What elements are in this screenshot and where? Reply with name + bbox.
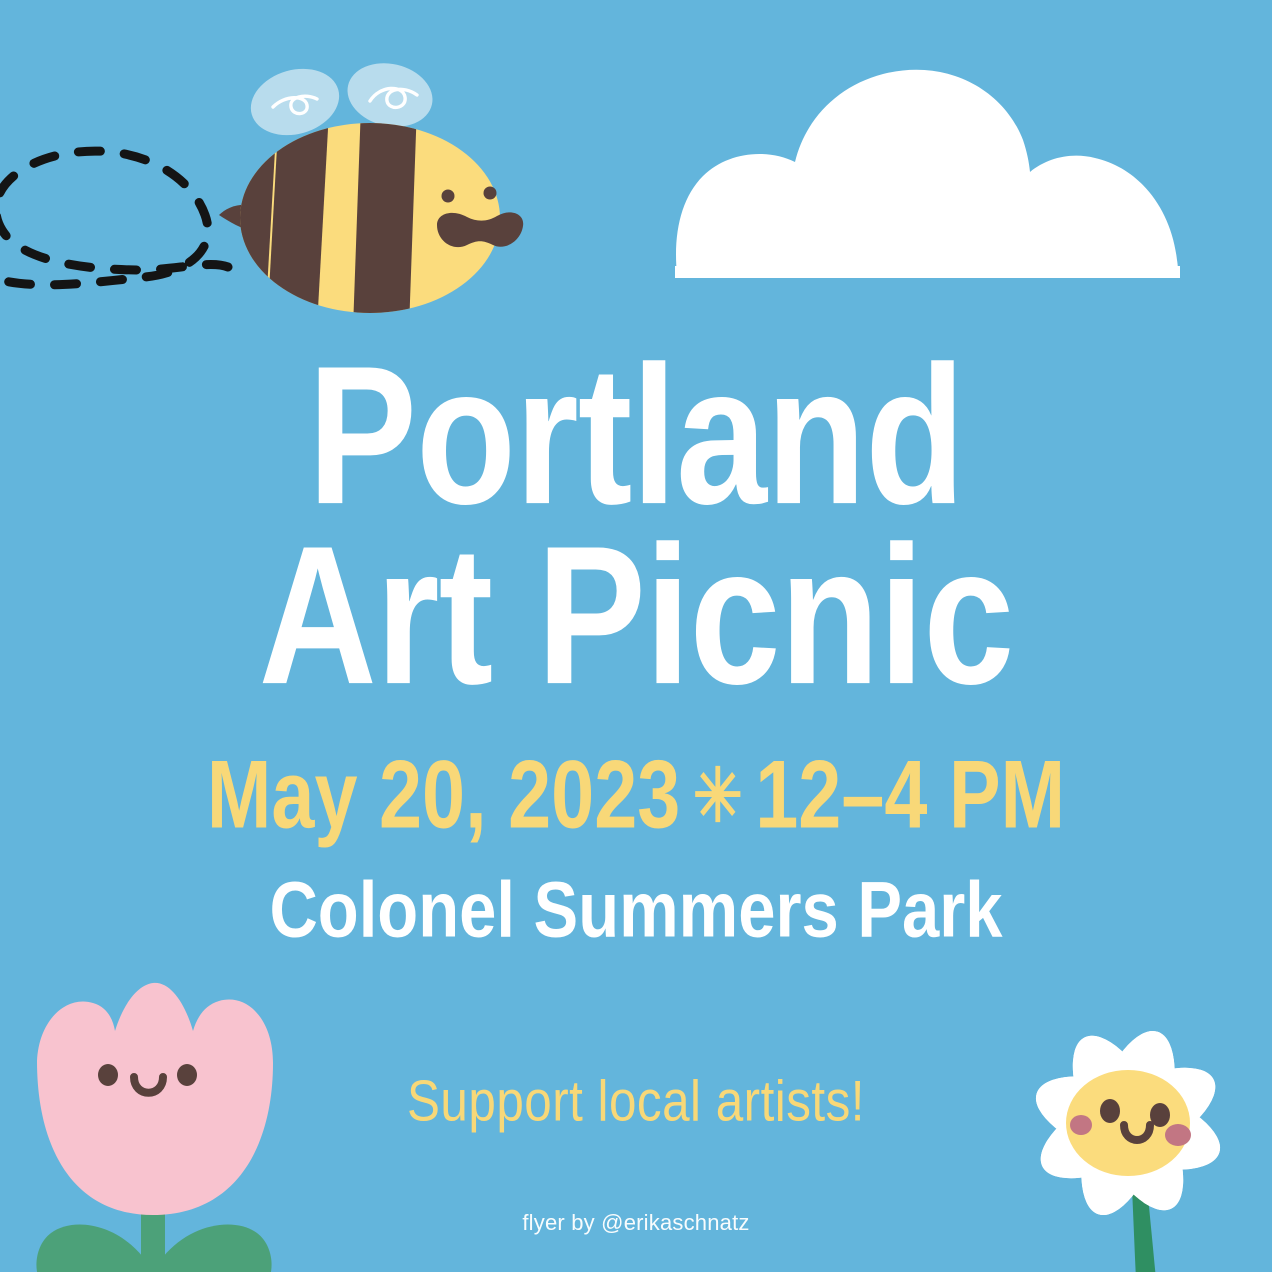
flyer-credit: flyer by @erikaschnatz [0, 1212, 1272, 1234]
event-date: May 20, 2023 [207, 741, 680, 849]
asterisk-sparkle-icon: ✳ [693, 758, 743, 832]
event-date-time-line: May 20, 2023✳12–4 PM [64, 747, 1209, 843]
flyer-text-block: Portland Art Picnic May 20, 2023✳12–4 PM… [0, 0, 1272, 1272]
event-title-line-1: Portland [45, 346, 1228, 527]
event-tagline: Support local artists! [32, 1073, 1240, 1130]
event-title-line-2: Art Picnic [45, 526, 1228, 707]
flyer-canvas: Portland Art Picnic May 20, 2023✳12–4 PM… [0, 0, 1272, 1272]
event-time: 12–4 PM [755, 741, 1065, 849]
event-venue: Colonel Summers Park [45, 870, 1228, 949]
